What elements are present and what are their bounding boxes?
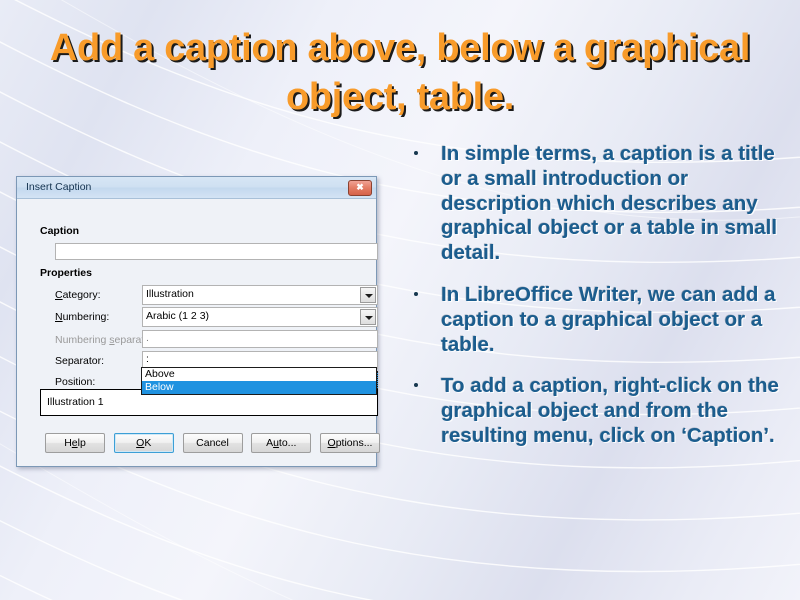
bullet-item: In simple terms, a caption is a title or… — [405, 142, 783, 266]
help-button-label-after: lp — [78, 437, 86, 449]
category-label: Category: — [55, 289, 101, 301]
category-value: Illustration — [146, 288, 194, 300]
dialog-body: Caption Properties Category: Illustratio… — [17, 199, 376, 467]
numbering-value: Arabic (1 2 3) — [146, 310, 209, 322]
slide-body-bullets: In simple terms, a caption is a title or… — [405, 142, 783, 466]
dialog-title-bar[interactable]: Insert Caption ✖ — [17, 177, 376, 199]
numbering-separator-label-before: Numbering — [55, 334, 109, 346]
bullet-text: In simple terms, a caption is a title or… — [441, 142, 777, 264]
cancel-button-label: Cancel — [196, 437, 229, 449]
category-label-mnemonic: C — [55, 289, 63, 301]
dialog-title: Insert Caption — [26, 181, 91, 193]
properties-group-label: Properties — [40, 267, 92, 279]
help-button[interactable]: Help — [45, 433, 105, 453]
presentation-slide: Add a caption above, below a graphical o… — [0, 0, 800, 600]
slide-title: Add a caption above, below a graphical o… — [40, 24, 760, 121]
bullet-item: In LibreOffice Writer, we can add a capt… — [405, 283, 783, 357]
category-label-rest: ategory: — [63, 289, 101, 301]
ok-button-label-after: K — [144, 437, 151, 449]
bullet-text: In LibreOffice Writer, we can add a capt… — [441, 283, 776, 356]
numbering-label: Numbering: — [55, 311, 109, 323]
chevron-down-icon[interactable] — [360, 287, 376, 303]
insert-caption-dialog: Insert Caption ✖ Caption Properties Cate… — [16, 176, 377, 467]
auto-button-label-after: to... — [279, 437, 297, 449]
position-label: Position: — [55, 376, 95, 388]
numbering-combobox[interactable]: Arabic (1 2 3) — [142, 307, 378, 327]
bullet-dot-icon — [414, 383, 418, 387]
help-button-label-before: H — [64, 437, 72, 449]
numbering-label-mnemonic: N — [55, 311, 63, 323]
position-option-above[interactable]: Above — [142, 368, 376, 381]
bullet-text: To add a caption, right-click on the gra… — [441, 374, 779, 447]
separator-label: Separator: — [55, 355, 104, 367]
cancel-button[interactable]: Cancel — [183, 433, 243, 453]
bullet-dot-icon — [414, 292, 418, 296]
chevron-down-icon[interactable] — [360, 309, 376, 325]
auto-button[interactable]: Auto... — [251, 433, 311, 453]
dialog-button-row: Help OK Cancel Auto... Options... — [45, 433, 380, 453]
numbering-label-rest: umbering: — [63, 311, 110, 323]
position-option-below[interactable]: Below — [142, 381, 376, 394]
options-button[interactable]: Options... — [320, 433, 380, 453]
bullet-dot-icon — [414, 151, 418, 155]
caption-group-label: Caption — [40, 225, 79, 237]
options-button-mnemonic: O — [328, 437, 336, 449]
category-combobox[interactable]: Illustration — [142, 285, 378, 305]
ok-button[interactable]: OK — [114, 433, 174, 453]
options-button-label-after: ptions... — [336, 437, 373, 449]
numbering-separator-input: . — [142, 330, 378, 348]
caption-input[interactable] — [55, 243, 378, 260]
position-dropdown-list[interactable]: Above Below — [141, 367, 377, 395]
bullet-item: To add a caption, right-click on the gra… — [405, 374, 783, 448]
close-icon[interactable]: ✖ — [348, 180, 372, 196]
